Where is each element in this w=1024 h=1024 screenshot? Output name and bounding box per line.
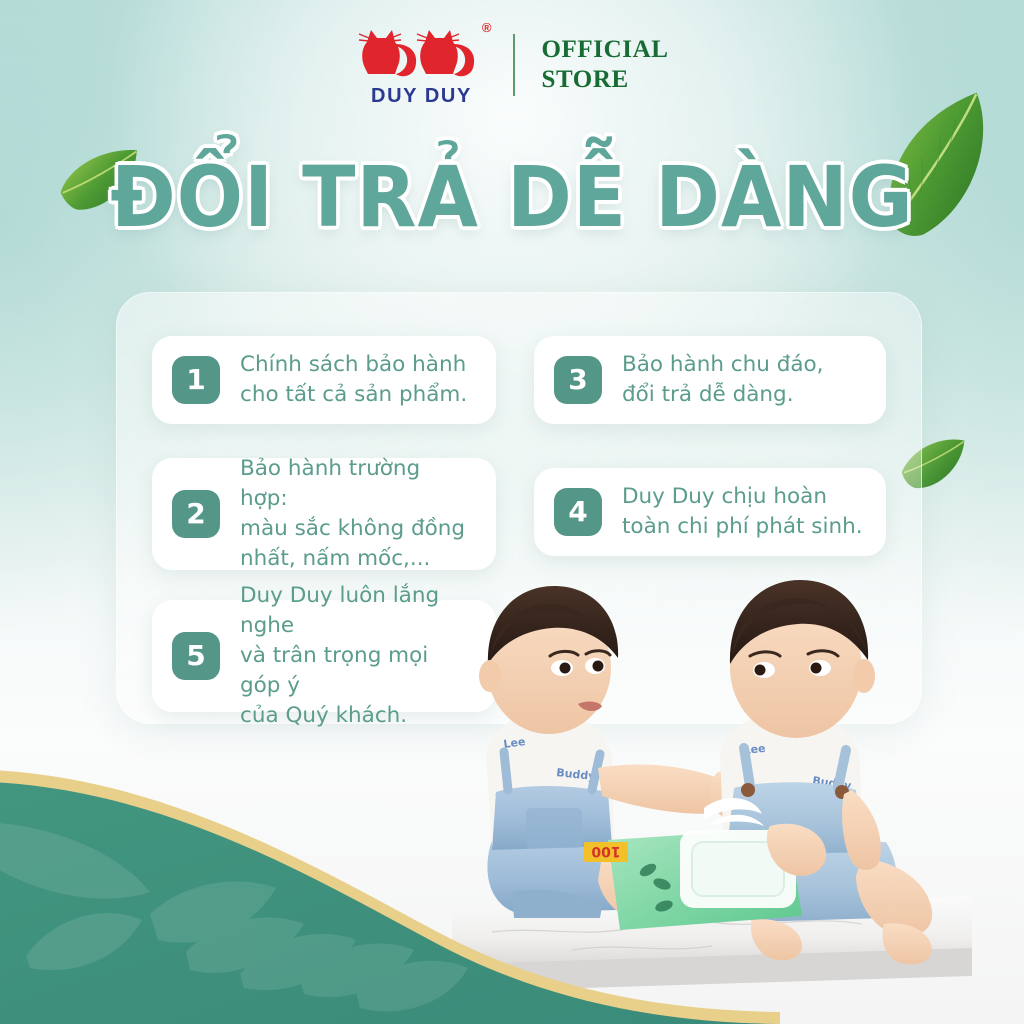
policy-number-badge: 2 — [172, 490, 220, 538]
page-title: ĐỔI TRẢ DỄ DÀNG — [36, 148, 988, 246]
policy-card-5[interactable]: 5 Duy Duy luôn lắng nghe và trân trọng m… — [152, 600, 496, 712]
policy-card-text: Bảo hành trường hợp: màu sắc không đồng … — [240, 454, 474, 574]
policy-card-text: Chính sách bảo hành cho tất cả sản phẩm. — [240, 350, 467, 410]
policy-card-text: Bảo hành chu đáo, đổi trả dễ dàng. — [622, 350, 824, 410]
policy-number-badge: 3 — [554, 356, 602, 404]
policy-card-text: Duy Duy luôn lắng nghe và trân trọng mọi… — [240, 581, 474, 731]
policy-card-text: Duy Duy chịu hoàn toàn chi phí phát sinh… — [622, 482, 863, 542]
duy-duy-two-cats-logo-icon: ® — [355, 22, 487, 84]
logo-block: ® DUY DUY — [355, 22, 487, 108]
policy-number-badge: 1 — [172, 356, 220, 404]
policy-card-1[interactable]: 1 Chính sách bảo hành cho tất cả sản phẩ… — [152, 336, 496, 424]
registered-trademark-symbol: ® — [482, 20, 492, 35]
logo-divider — [513, 34, 515, 96]
brand-header: ® DUY DUY OFFICIAL STORE — [0, 22, 1024, 108]
official-store-label: OFFICIAL STORE — [541, 35, 668, 96]
bottom-wave-decoration — [0, 724, 780, 1024]
official-line-1: OFFICIAL — [541, 35, 668, 66]
poster-canvas: ® DUY DUY OFFICIAL STORE ĐỔI TRẢ DỄ DÀNG… — [0, 0, 1024, 1024]
policy-card-3[interactable]: 3 Bảo hành chu đáo, đổi trả dễ dàng. — [534, 336, 886, 424]
policy-card-2[interactable]: 2 Bảo hành trường hợp: màu sắc không đồn… — [152, 458, 496, 570]
official-line-2: STORE — [541, 65, 668, 96]
brand-wordmark: DUY DUY — [371, 85, 472, 108]
policy-number-badge: 5 — [172, 632, 220, 680]
policy-number-badge: 4 — [554, 488, 602, 536]
